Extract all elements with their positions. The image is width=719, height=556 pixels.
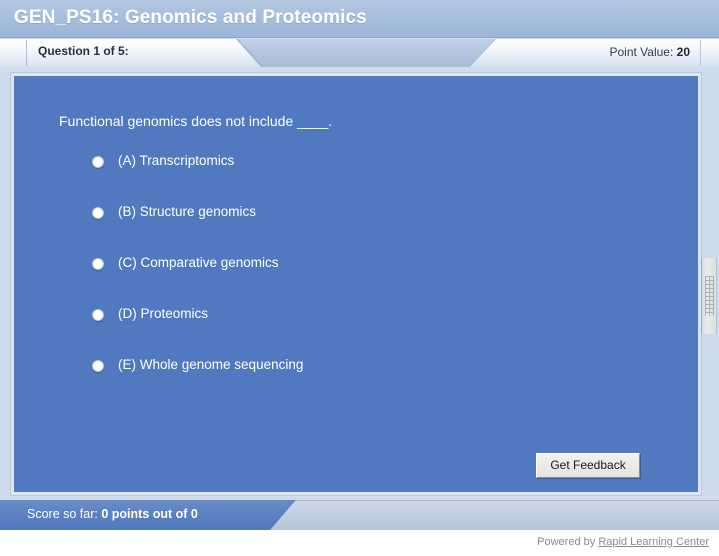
point-value-tab-separator bbox=[700, 40, 701, 66]
question-panel: Functional genomics does not include ___… bbox=[14, 76, 698, 492]
score-prefix: Score so far: bbox=[27, 507, 98, 521]
answer-option-e[interactable]: (E) Whole genome sequencing bbox=[92, 357, 652, 408]
question-counter: Question 1 of 5: bbox=[38, 44, 129, 58]
score-bar: Score so far: 0 points out of 0 bbox=[0, 500, 719, 530]
answer-option-c[interactable]: (C) Comparative genomics bbox=[92, 255, 652, 306]
radio-button-icon[interactable] bbox=[92, 156, 104, 168]
get-feedback-button[interactable]: Get Feedback bbox=[536, 453, 640, 478]
point-value-label: Point Value: bbox=[609, 45, 673, 59]
answer-option-label: (B) Structure genomics bbox=[118, 204, 256, 219]
score-status: Score so far: 0 points out of 0 bbox=[27, 507, 198, 521]
page-title: GEN_PS16: Genomics and Proteomics bbox=[14, 7, 367, 29]
powered-by-text: Powered by bbox=[537, 536, 595, 548]
score-value: 0 points out of 0 bbox=[101, 507, 198, 521]
brand-link[interactable]: Rapid Learning Center bbox=[598, 536, 709, 548]
grip-dots-icon bbox=[705, 276, 714, 316]
answer-option-d[interactable]: (D) Proteomics bbox=[92, 306, 652, 357]
point-value-number: 20 bbox=[677, 45, 690, 59]
answer-option-label: (E) Whole genome sequencing bbox=[118, 357, 303, 372]
panel-resize-handle[interactable] bbox=[701, 258, 717, 334]
radio-button-icon[interactable] bbox=[92, 207, 104, 219]
footer: Powered by Rapid Learning Center bbox=[0, 530, 719, 556]
question-text: Functional genomics does not include ___… bbox=[59, 113, 332, 129]
point-value: Point Value: 20 bbox=[609, 45, 690, 59]
question-tab-separator bbox=[26, 40, 27, 66]
question-panel-frame: Functional genomics does not include ___… bbox=[10, 72, 702, 496]
answer-option-label: (A) Transcriptomics bbox=[118, 153, 234, 168]
title-bar: GEN_PS16: Genomics and Proteomics bbox=[0, 0, 719, 38]
radio-button-icon[interactable] bbox=[92, 309, 104, 321]
answer-option-a[interactable]: (A) Transcriptomics bbox=[92, 153, 652, 204]
answer-option-label: (C) Comparative genomics bbox=[118, 255, 279, 270]
answer-option-b[interactable]: (B) Structure genomics bbox=[92, 204, 652, 255]
radio-button-icon[interactable] bbox=[92, 360, 104, 372]
answer-option-label: (D) Proteomics bbox=[118, 306, 208, 321]
question-status-bar: Question 1 of 5: Point Value: 20 bbox=[0, 39, 719, 67]
radio-button-icon[interactable] bbox=[92, 258, 104, 270]
quiz-application: GEN_PS16: Genomics and Proteomics Questi… bbox=[0, 0, 719, 556]
powered-by-credit: Powered by Rapid Learning Center bbox=[537, 536, 709, 548]
answer-options: (A) Transcriptomics (B) Structure genomi… bbox=[92, 153, 652, 408]
